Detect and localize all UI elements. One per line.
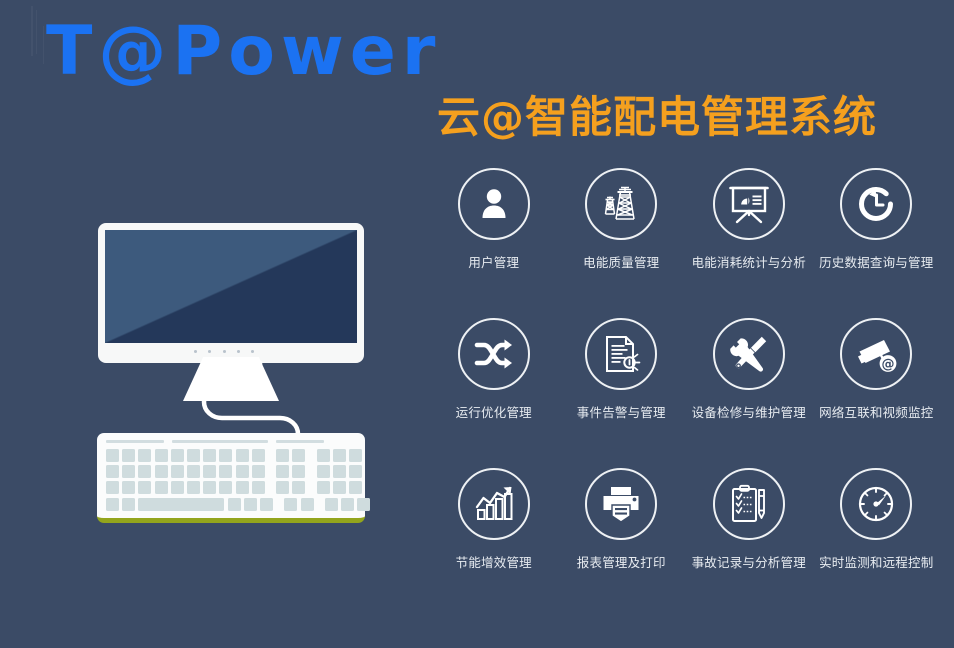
background-streak (36, 10, 37, 54)
growth-chart-icon (458, 468, 530, 540)
wrench-screwdriver-icon (713, 318, 785, 390)
monitor-screen (105, 230, 357, 343)
feature-label: 节能增效管理 (456, 557, 532, 570)
svg-text:@: @ (882, 357, 895, 372)
monitor-bezel (98, 223, 364, 363)
keyboard-function-row (106, 440, 356, 444)
shuffle-arrows-icon (458, 318, 530, 390)
feature-label: 网络互联和视频监控 (819, 407, 933, 420)
background-streak (31, 6, 33, 56)
security-camera-at-icon: @ (840, 318, 912, 390)
page-subtitle: 云@智能配电管理系统 (437, 95, 877, 142)
gauge-icon (840, 468, 912, 540)
brand-title: T@Power (46, 16, 441, 87)
document-alert-icon (585, 318, 657, 390)
feature-grid: 用户管理 (430, 168, 940, 598)
keyboard-row (106, 465, 356, 478)
monitor-indicator-dots (194, 349, 254, 354)
feature-label: 历史数据查询与管理 (819, 257, 933, 270)
keyboard-illustration (97, 433, 365, 523)
user-icon (458, 168, 530, 240)
poster-canvas: T@Power 云@智能配电管理系统 (0, 0, 954, 648)
power-tower-icon (585, 168, 657, 240)
feature-item-report-printing[interactable]: 报表管理及打印 (558, 468, 686, 618)
keyboard-row (106, 449, 356, 462)
background-streak (43, 26, 44, 64)
feature-item-user-management[interactable]: 用户管理 (430, 168, 558, 318)
feature-item-power-quality[interactable]: 电能质量管理 (558, 168, 686, 318)
history-clock-icon (840, 168, 912, 240)
presentation-chart-icon (713, 168, 785, 240)
feature-item-incident-records[interactable]: 事故记录与分析管理 (685, 468, 813, 618)
clipboard-checklist-icon (713, 468, 785, 540)
feature-item-maintenance[interactable]: 设备检修与维护管理 (685, 318, 813, 468)
feature-label: 事故记录与分析管理 (692, 557, 806, 570)
feature-label: 用户管理 (468, 257, 519, 270)
keyboard-row (106, 498, 356, 511)
feature-item-realtime-control[interactable]: 实时监测和远程控制 (813, 468, 941, 618)
feature-label: 运行优化管理 (456, 407, 532, 420)
feature-label: 报表管理及打印 (577, 557, 666, 570)
feature-label: 设备检修与维护管理 (692, 407, 806, 420)
feature-label: 事件告警与管理 (577, 407, 666, 420)
feature-item-video-monitoring[interactable]: @ 网络互联和视频监控 (813, 318, 941, 468)
keyboard-row (106, 481, 356, 494)
feature-item-consumption-analysis[interactable]: 电能消耗统计与分析 (685, 168, 813, 318)
feature-item-energy-saving[interactable]: 节能增效管理 (430, 468, 558, 618)
feature-item-operation-optimization[interactable]: 运行优化管理 (430, 318, 558, 468)
feature-item-history-data[interactable]: 历史数据查询与管理 (813, 168, 941, 318)
feature-label: 电能消耗统计与分析 (692, 257, 806, 270)
feature-item-event-alarm[interactable]: 事件告警与管理 (558, 318, 686, 468)
desktop-computer-illustration (80, 205, 390, 545)
printer-icon (585, 468, 657, 540)
feature-label: 实时监测和远程控制 (819, 557, 933, 570)
feature-label: 电能质量管理 (583, 257, 659, 270)
